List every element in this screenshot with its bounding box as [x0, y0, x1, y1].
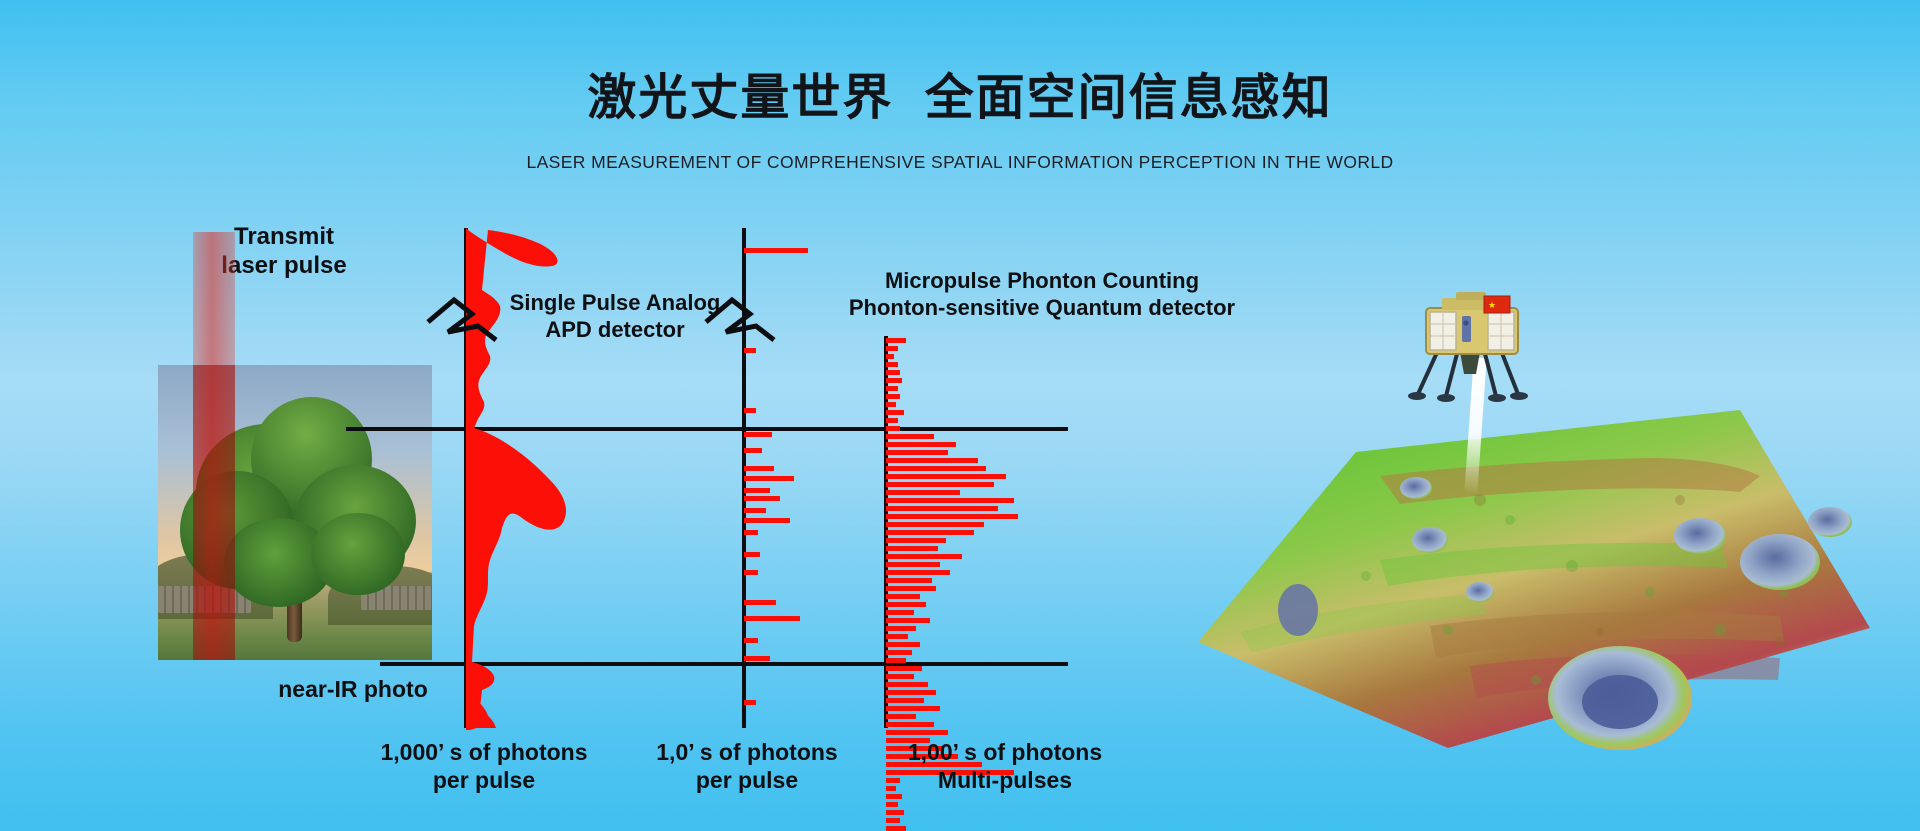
photon-event-bar — [886, 722, 934, 727]
photon-event-bar — [744, 432, 772, 437]
photon-event-bar — [886, 402, 896, 407]
photon-event-bar — [744, 656, 770, 661]
photon-event-bar — [886, 466, 986, 471]
photon-event-bar — [886, 354, 894, 359]
panel2-axis-break — [704, 292, 784, 348]
photon-event-bar — [886, 658, 906, 663]
photon-event-bar — [744, 448, 762, 453]
photon-event-bar — [886, 490, 960, 495]
page-title: 激光丈量世界 全面空间信息感知 — [0, 58, 1920, 129]
photon-event-bar — [744, 616, 800, 621]
photon-event-bar — [886, 578, 932, 583]
lunar-scene: ★ — [1180, 290, 1880, 760]
svg-text:★: ★ — [1488, 300, 1496, 310]
panel3-caption: 1,00’ s of photons Multi-pulses — [880, 738, 1130, 794]
poster-stage: 激光丈量世界 全面空间信息感知 LASER MEASUREMENT OF COM… — [0, 0, 1920, 828]
panel2-caption: 1,0’ s of photons per pulse — [628, 738, 866, 794]
laser-beam-photo-overlay — [193, 365, 235, 660]
photon-event-bar — [886, 546, 938, 551]
photon-event-bar — [744, 530, 758, 535]
photon-event-bar — [886, 530, 974, 535]
photon-event-bar — [744, 488, 770, 493]
photon-event-bar — [886, 810, 904, 815]
photon-event-bar — [744, 348, 756, 353]
photon-event-bar — [886, 442, 956, 447]
photon-event-bar — [886, 426, 900, 431]
near-ir-photo-label: near-IR photo — [248, 675, 458, 703]
photon-event-bar — [886, 714, 916, 719]
photon-event-bar — [744, 476, 794, 481]
photon-event-bar — [886, 418, 898, 423]
photon-event-bar — [886, 602, 926, 607]
photon-event-bar — [744, 408, 756, 413]
photon-event-bar — [886, 482, 994, 487]
photon-event-bar — [886, 586, 936, 591]
photon-event-bar — [886, 642, 920, 647]
photon-event-bar — [886, 826, 906, 831]
photon-event-bar — [886, 666, 922, 671]
photon-event-bar — [886, 410, 904, 415]
photon-event-bar — [886, 506, 998, 511]
photon-event-bar — [744, 700, 756, 705]
photon-event-bar — [744, 552, 760, 557]
photon-event-bar — [886, 362, 898, 367]
photon-event-bar — [744, 638, 758, 643]
canopy-reference-line — [346, 427, 1068, 431]
photon-event-bar — [744, 600, 776, 605]
photon-event-bar — [886, 650, 912, 655]
photon-event-bar — [886, 674, 914, 679]
photon-event-bar — [886, 634, 908, 639]
photon-event-bar — [886, 594, 920, 599]
photon-event-bar — [886, 434, 934, 439]
photon-event-bar — [744, 496, 780, 501]
panel1-caption: 1,000’ s of photons per pulse — [356, 738, 612, 794]
lidar-dem-terrain — [1180, 380, 1880, 760]
photon-event-bar — [886, 794, 902, 799]
photon-event-bar — [886, 386, 898, 391]
photon-event-bar — [886, 626, 916, 631]
photon-event-bar — [886, 618, 930, 623]
photon-event-bar — [886, 394, 900, 399]
photon-event-bar — [744, 508, 766, 513]
panel1-waveform-below-ground — [466, 662, 536, 730]
photon-event-bar — [886, 818, 900, 823]
photon-event-bar — [744, 518, 790, 523]
photon-event-bar — [886, 562, 940, 567]
photon-event-bar — [886, 538, 946, 543]
photon-event-bar — [886, 514, 1018, 519]
photon-event-bar — [886, 698, 924, 703]
photon-event-bar — [886, 346, 898, 351]
photon-event-bar — [886, 378, 902, 383]
photon-event-bar — [886, 610, 914, 615]
tree-canopy — [311, 513, 404, 596]
photon-event-bar — [886, 498, 1014, 503]
photon-event-bar — [886, 474, 1006, 479]
photon-event-bar — [744, 248, 808, 253]
photon-event-bar — [886, 450, 948, 455]
photon-event-bar — [886, 730, 948, 735]
photon-event-bar — [886, 682, 928, 687]
photon-event-bar — [886, 690, 936, 695]
page-subtitle: LASER MEASUREMENT OF COMPREHENSIVE SPATI… — [0, 152, 1920, 173]
photon-event-bar — [886, 706, 940, 711]
photon-event-bar — [886, 802, 898, 807]
photon-event-bar — [886, 458, 978, 463]
photon-event-bar — [886, 570, 950, 575]
photon-event-bar — [886, 554, 962, 559]
lunar-lander: ★ — [1396, 290, 1556, 420]
photon-event-bar — [886, 338, 906, 343]
photon-event-bar — [744, 570, 758, 575]
photon-event-bar — [886, 370, 900, 375]
photon-event-bar — [886, 522, 984, 527]
photon-event-bar — [744, 466, 774, 471]
